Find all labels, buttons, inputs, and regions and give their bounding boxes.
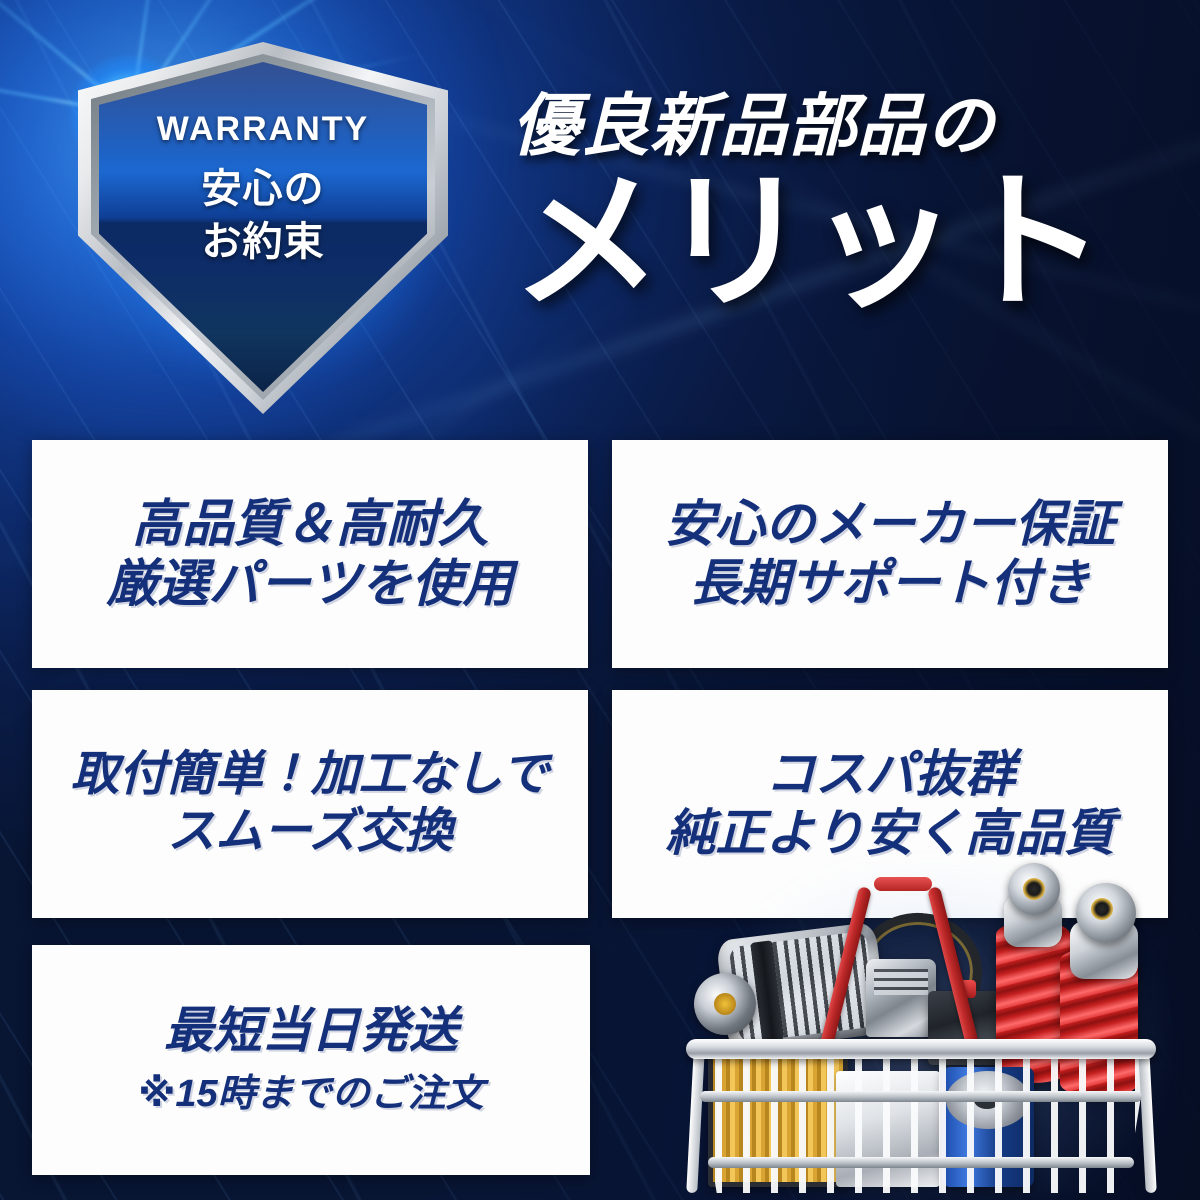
- basket-side-left: [686, 1049, 705, 1193]
- benefit-card-quality: 高品質＆高耐久 厳選パーツを使用: [32, 440, 588, 668]
- benefit-card-warranty-line-2: 長期サポート付き: [690, 554, 1090, 613]
- auto-parts-basket-artwork: [660, 855, 1200, 1200]
- basket-mid-rail: [700, 1091, 1142, 1102]
- coil-spring-rear-eyelet: [1008, 863, 1060, 915]
- benefit-card-shipping-note: ※15時までのご注文: [138, 1072, 483, 1117]
- benefit-card-installation-line-1: 取付簡単！加工なしで: [71, 747, 550, 804]
- shield-text-group: WARRANTY 安心の お約束: [99, 62, 427, 392]
- benefit-card-quality-line-2: 厳選パーツを使用: [107, 554, 514, 614]
- promo-banner: WARRANTY 安心の お約束 優良新品部品の メリット 高品質＆高耐久 厳選…: [0, 0, 1200, 1200]
- coil-spring-front-eyelet: [1076, 883, 1136, 943]
- shield-promise-line-1: 安心の: [202, 163, 325, 216]
- basket-side-right: [1138, 1049, 1157, 1193]
- shield-promise-line-2: お約束: [202, 216, 325, 269]
- benefit-card-installation-line-2: スムーズ交換: [167, 804, 453, 861]
- shield-eyebrow-label: WARRANTY: [157, 110, 369, 149]
- benefit-card-shipping: 最短当日発送 ※15時までのご注文: [32, 945, 590, 1175]
- shield-promise-text: 安心の お約束: [202, 163, 325, 269]
- headline-subtitle: 優良新品部品の: [512, 92, 1172, 160]
- piston-icon: [866, 959, 936, 1037]
- headline-group: 優良新品部品の メリット: [512, 92, 1172, 319]
- shopping-basket-icon: [686, 1039, 1156, 1199]
- benefit-card-installation: 取付簡単！加工なしで スムーズ交換: [32, 690, 588, 918]
- headline-title: メリット: [512, 166, 1172, 319]
- basket-top-rim: [686, 1039, 1156, 1059]
- benefit-card-warranty-line-1: 安心のメーカー保証: [665, 495, 1115, 554]
- basket-lower-rail: [708, 1157, 1134, 1168]
- benefit-card-shipping-line-1: 最短当日発送: [164, 1003, 458, 1061]
- basket-wire-bars: [694, 1053, 1148, 1193]
- benefit-card-cost-line-1: コスパ抜群: [765, 745, 1015, 804]
- basket-handle-top: [874, 877, 932, 891]
- benefit-card-warranty: 安心のメーカー保証 長期サポート付き: [612, 440, 1168, 668]
- warranty-shield-badge: WARRANTY 安心の お約束: [78, 42, 448, 414]
- benefit-card-quality-line-1: 高品質＆高耐久: [131, 494, 488, 554]
